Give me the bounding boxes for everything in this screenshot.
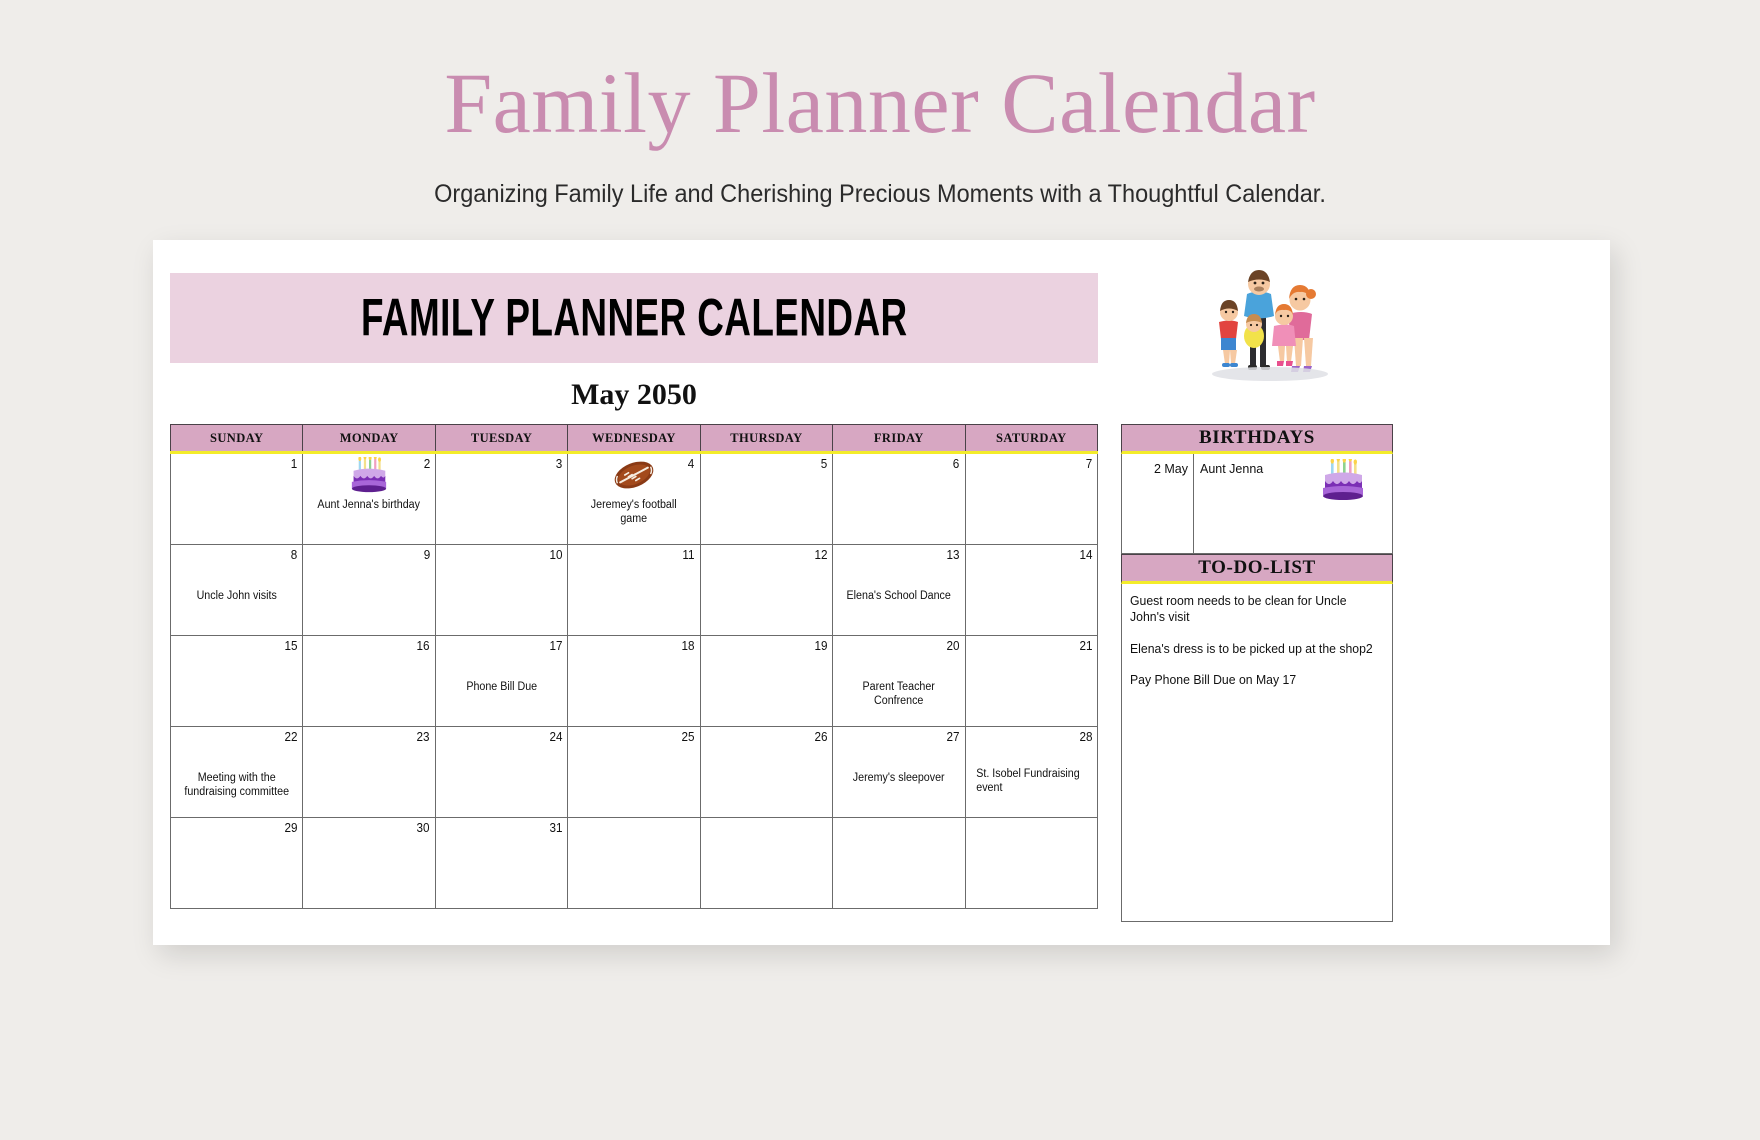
weekday-header-friday: FRIDAY bbox=[833, 425, 965, 453]
day-number: 4 bbox=[688, 456, 695, 471]
todo-panel-body: Guest room needs to be clean for Uncle J… bbox=[1121, 584, 1393, 922]
calendar-day-cell[interactable]: 19 bbox=[700, 636, 832, 727]
day-number: 28 bbox=[1079, 729, 1092, 744]
day-number: 22 bbox=[284, 729, 297, 744]
calendar-day-cell[interactable]: 9 bbox=[303, 545, 435, 636]
calendar-day-cell[interactable]: 13Elena's School Dance bbox=[833, 545, 965, 636]
calendar-grid: SUNDAY MONDAY TUESDAY WEDNESDAY THURSDAY… bbox=[170, 424, 1098, 909]
boy-figure bbox=[1219, 300, 1238, 367]
day-number: 15 bbox=[284, 638, 297, 653]
calendar-day-cell[interactable]: 23 bbox=[303, 727, 435, 818]
calendar-day-cell[interactable]: 26 bbox=[700, 727, 832, 818]
calendar-day-cell[interactable]: 17Phone Bill Due bbox=[435, 636, 567, 727]
day-event-label: Aunt Jenna's birthday bbox=[312, 498, 427, 512]
birthday-cake-icon bbox=[1318, 459, 1368, 501]
weekday-header-saturday: SATURDAY bbox=[965, 425, 1097, 453]
calendar-day-cell[interactable] bbox=[568, 818, 700, 909]
calendar-body: 1 2Aunt Jenna's birthday3 4Jeremey's foo… bbox=[171, 453, 1098, 909]
football-icon bbox=[611, 457, 657, 493]
calendar-day-cell[interactable]: 27Jeremy's sleepover bbox=[833, 727, 965, 818]
day-number: 10 bbox=[549, 547, 562, 562]
weekday-header-row: SUNDAY MONDAY TUESDAY WEDNESDAY THURSDAY… bbox=[171, 425, 1098, 453]
day-number: 19 bbox=[814, 638, 827, 653]
day-number: 11 bbox=[683, 547, 695, 562]
calendar-day-cell[interactable]: 22Meeting with the fundraising committee bbox=[171, 727, 303, 818]
day-number: 13 bbox=[947, 547, 960, 562]
calendar-day-cell[interactable]: 6 bbox=[833, 453, 965, 545]
day-number: 14 bbox=[1079, 547, 1092, 562]
day-event-label: St. Isobel Fundraising event bbox=[976, 767, 1089, 796]
birthday-cake-icon bbox=[346, 457, 392, 493]
calendar-week-row: 293031 bbox=[171, 818, 1098, 909]
calendar-sheet: FAMILY PLANNER CALENDAR bbox=[153, 240, 1610, 945]
day-number: 2 bbox=[423, 456, 430, 471]
month-label: May 2050 bbox=[170, 378, 1098, 412]
todo-panel-title: TO-DO-LIST bbox=[1121, 554, 1393, 584]
calendar-day-cell[interactable]: 29 bbox=[171, 818, 303, 909]
calendar-day-cell[interactable]: 7 bbox=[965, 453, 1097, 545]
day-number: 18 bbox=[682, 638, 695, 653]
day-number: 21 bbox=[1079, 638, 1092, 653]
calendar-banner-label: FAMILY PLANNER CALENDAR bbox=[361, 287, 908, 348]
right-rail: BIRTHDAYS 2 May Aunt Jenna bbox=[1121, 424, 1393, 922]
day-event-label: Uncle John visits bbox=[179, 589, 294, 603]
day-number: 25 bbox=[682, 729, 695, 744]
day-number: 5 bbox=[821, 456, 828, 471]
day-number: 29 bbox=[284, 820, 297, 835]
calendar-day-cell[interactable]: 10 bbox=[435, 545, 567, 636]
calendar-day-cell[interactable] bbox=[700, 818, 832, 909]
day-number: 17 bbox=[549, 638, 562, 653]
day-number: 31 bbox=[549, 820, 562, 835]
todo-item: Pay Phone Bill Due on May 17 bbox=[1130, 672, 1379, 688]
day-number: 26 bbox=[814, 729, 827, 744]
page-title: Family Planner Calendar bbox=[0, 58, 1760, 148]
day-number: 8 bbox=[291, 547, 298, 562]
day-number: 7 bbox=[1085, 456, 1092, 471]
birthdays-panel-title: BIRTHDAYS bbox=[1121, 424, 1393, 454]
weekday-header-wednesday: WEDNESDAY bbox=[568, 425, 700, 453]
day-number: 3 bbox=[556, 456, 563, 471]
calendar-week-row: 151617Phone Bill Due181920Parent Teacher… bbox=[171, 636, 1098, 727]
todo-item: Guest room needs to be clean for Uncle J… bbox=[1130, 593, 1379, 626]
birthdays-panel-body: 2 May Aunt Jenna bbox=[1121, 454, 1393, 554]
calendar-day-cell[interactable] bbox=[965, 818, 1097, 909]
day-event-label: Phone Bill Due bbox=[444, 680, 559, 694]
calendar-day-cell[interactable]: 28St. Isobel Fundraising event bbox=[965, 727, 1097, 818]
calendar-day-cell[interactable]: 8Uncle John visits bbox=[171, 545, 303, 636]
girl-figure bbox=[1272, 304, 1296, 366]
birthday-date: 2 May bbox=[1122, 454, 1194, 553]
calendar-day-cell[interactable]: 15 bbox=[171, 636, 303, 727]
calendar-day-cell[interactable] bbox=[833, 818, 965, 909]
page-root: Family Planner Calendar Organizing Famil… bbox=[0, 0, 1760, 1140]
calendar-day-cell[interactable]: 14 bbox=[965, 545, 1097, 636]
calendar-day-cell[interactable]: 24 bbox=[435, 727, 567, 818]
calendar-day-cell[interactable]: 16 bbox=[303, 636, 435, 727]
day-number: 23 bbox=[417, 729, 430, 744]
calendar-day-cell[interactable]: 12 bbox=[700, 545, 832, 636]
calendar-banner: FAMILY PLANNER CALENDAR bbox=[170, 273, 1098, 363]
weekday-header-thursday: THURSDAY bbox=[700, 425, 832, 453]
calendar-day-cell[interactable]: 11 bbox=[568, 545, 700, 636]
calendar-week-row: 1 2Aunt Jenna's birthday3 4Jeremey's foo… bbox=[171, 453, 1098, 545]
day-event-label: Jeremy's sleepover bbox=[841, 771, 956, 785]
day-number: 30 bbox=[417, 820, 430, 835]
baby-figure bbox=[1244, 314, 1264, 348]
calendar-week-row: 8Uncle John visits910111213Elena's Schoo… bbox=[171, 545, 1098, 636]
calendar-day-cell[interactable]: 4Jeremey's football game bbox=[568, 453, 700, 545]
day-number: 6 bbox=[953, 456, 960, 471]
weekday-header-monday: MONDAY bbox=[303, 425, 435, 453]
day-event-label: Jeremey's football game bbox=[577, 498, 692, 527]
calendar-day-cell[interactable]: 5 bbox=[700, 453, 832, 545]
todo-item: Elena's dress is to be picked up at the … bbox=[1130, 641, 1379, 657]
calendar-day-cell[interactable]: 31 bbox=[435, 818, 567, 909]
weekday-header-tuesday: TUESDAY bbox=[435, 425, 567, 453]
day-number: 24 bbox=[549, 729, 562, 744]
day-number: 16 bbox=[417, 638, 430, 653]
day-event-label: Meeting with the fundraising committee bbox=[179, 771, 294, 800]
weekday-header-sunday: SUNDAY bbox=[171, 425, 303, 453]
calendar-day-cell[interactable]: 18 bbox=[568, 636, 700, 727]
family-illustration bbox=[1188, 270, 1353, 405]
calendar-day-cell[interactable]: 30 bbox=[303, 818, 435, 909]
calendar-week-row: 22Meeting with the fundraising committee… bbox=[171, 727, 1098, 818]
day-event-label: Elena's School Dance bbox=[841, 589, 956, 603]
day-number: 27 bbox=[947, 729, 960, 744]
calendar-day-cell[interactable]: 20Parent Teacher Confrence bbox=[833, 636, 965, 727]
day-number: 1 bbox=[291, 456, 298, 471]
calendar-day-cell[interactable]: 1 bbox=[171, 453, 303, 545]
day-number: 20 bbox=[947, 638, 960, 653]
day-number: 12 bbox=[814, 547, 827, 562]
day-number: 9 bbox=[423, 547, 430, 562]
calendar-day-cell[interactable]: 21 bbox=[965, 636, 1097, 727]
calendar-day-cell[interactable]: 2Aunt Jenna's birthday bbox=[303, 453, 435, 545]
calendar-day-cell[interactable]: 3 bbox=[435, 453, 567, 545]
calendar-day-cell[interactable]: 25 bbox=[568, 727, 700, 818]
day-event-label: Parent Teacher Confrence bbox=[841, 680, 956, 709]
page-subtitle: Organizing Family Life and Cherishing Pr… bbox=[53, 180, 1707, 209]
